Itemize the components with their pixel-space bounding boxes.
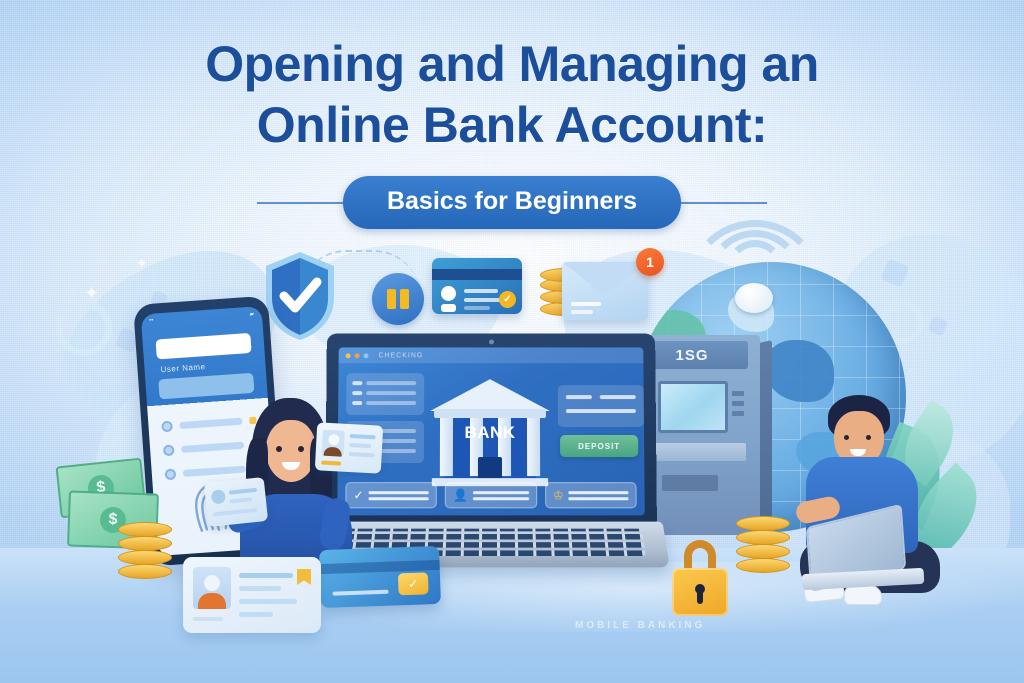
password-input[interactable] bbox=[158, 373, 254, 400]
held-id-card bbox=[315, 422, 383, 473]
status-right: ▰ bbox=[249, 311, 254, 318]
poster-header: Opening and Managing an Online Bank Acco… bbox=[0, 34, 1024, 229]
card-chip-icon: ✓ bbox=[398, 572, 429, 595]
status-left: •• bbox=[149, 318, 154, 325]
feature-pill-premium[interactable]: ♔ bbox=[545, 482, 637, 508]
notification-badge: 1 bbox=[636, 248, 664, 276]
radio-icon bbox=[161, 421, 173, 433]
atm-brand-label: 1SG bbox=[675, 347, 708, 364]
window-dot-orange[interactable] bbox=[355, 353, 360, 358]
radio-icon bbox=[163, 445, 175, 457]
floor-watermark: MOBILE BANKING bbox=[575, 620, 705, 631]
coin-stack-icon bbox=[118, 518, 172, 582]
feature-pill-account[interactable]: 👤 bbox=[445, 482, 537, 508]
credit-card-icon: ✓ bbox=[432, 258, 522, 314]
avatar bbox=[193, 567, 231, 609]
page-title-line-1: Opening and Managing an bbox=[0, 34, 1024, 95]
credit-card-bottom: ✓ bbox=[319, 546, 441, 608]
deposit-button[interactable]: DEPOSIT bbox=[560, 435, 638, 457]
feature-row: ✓ 👤 ♔ bbox=[345, 482, 636, 508]
username-input[interactable] bbox=[155, 333, 251, 360]
divider-left bbox=[257, 202, 349, 204]
shield-check-icon bbox=[262, 250, 338, 342]
person-icon: 👤 bbox=[453, 488, 468, 502]
poster-canvas: ✦ ✦ ✦ Opening and Managing an Online Ban… bbox=[0, 0, 1024, 683]
personal-laptop bbox=[808, 515, 918, 593]
subtitle-row: Basics for Beginners bbox=[0, 176, 1024, 229]
browser-toolbar: CHECKING bbox=[339, 347, 644, 363]
window-dot-blue[interactable] bbox=[364, 353, 369, 358]
id-card-bottom bbox=[183, 557, 321, 633]
bar-chart-icon bbox=[372, 273, 424, 325]
atm-screen bbox=[658, 381, 728, 433]
subtitle-badge: Basics for Beginners bbox=[343, 176, 681, 229]
window-dot-yellow[interactable] bbox=[346, 353, 351, 358]
webcam-icon bbox=[489, 340, 494, 345]
bank-sign-label: BANK bbox=[430, 423, 550, 443]
atm-cash-slot bbox=[662, 475, 718, 491]
phone-status-bar: •• ▰ bbox=[149, 311, 254, 325]
address-bar[interactable]: CHECKING bbox=[378, 352, 423, 359]
globe-antenna bbox=[735, 283, 773, 313]
person-man-illustration bbox=[800, 395, 970, 610]
badge-icon bbox=[297, 569, 311, 585]
summary-panel bbox=[558, 385, 644, 427]
username-label: User Name bbox=[160, 362, 205, 374]
envelope-icon bbox=[562, 262, 648, 320]
coin-stack-icon bbox=[736, 512, 790, 576]
laptop-screen: CHECKING bbox=[337, 347, 645, 515]
page-title-line-2: Online Bank Account: bbox=[0, 95, 1024, 156]
held-card-left bbox=[204, 477, 268, 527]
radio-icon bbox=[165, 468, 177, 480]
crown-icon: ♔ bbox=[553, 488, 564, 502]
padlock-icon bbox=[672, 540, 728, 618]
divider-right bbox=[675, 202, 767, 204]
bank-building-graphic: BANK bbox=[430, 379, 550, 489]
